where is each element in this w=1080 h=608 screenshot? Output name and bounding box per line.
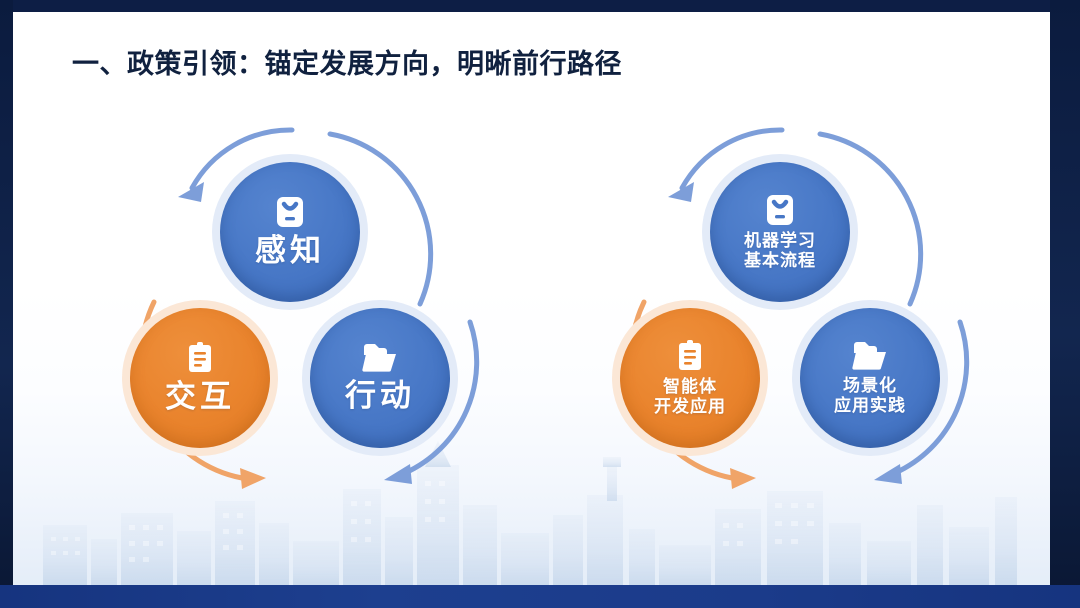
node-agent-development[interactable]: 智能体 开发应用 <box>612 300 768 456</box>
frame-bottom-bar <box>0 585 1080 608</box>
folder-icon <box>362 342 398 374</box>
node-label: 感知 <box>255 233 325 270</box>
clipboard-icon <box>675 339 705 373</box>
node-label: 交互 <box>165 379 235 416</box>
slide-page: 一、政策引领：锚定发展方向，明晰前行路径 <box>13 12 1050 585</box>
slide-canvas: 一、政策引领：锚定发展方向，明晰前行路径 <box>0 0 1080 608</box>
node-label: 行动 <box>345 378 415 415</box>
arrowhead-bottom-left <box>240 468 266 489</box>
node-label: 智能体 开发应用 <box>654 377 726 417</box>
node-machine-learning-process[interactable]: 机器学习 基本流程 <box>702 154 858 310</box>
node-action[interactable]: 行动 <box>302 300 458 456</box>
diagram-course-module-loop: 机器学习 基本流程 智能体 开发应用 <box>560 12 1000 585</box>
clipboard-icon <box>185 341 215 375</box>
arrowhead-right <box>384 464 412 484</box>
node-label: 场景化 应用实践 <box>834 376 906 416</box>
arrowhead-top-left <box>178 182 204 202</box>
robot-bag-icon <box>764 193 796 227</box>
arrowhead-right <box>874 464 902 484</box>
arrowhead-bottom-left <box>730 468 756 489</box>
frame-left-border <box>0 0 13 608</box>
frame-top-border <box>0 0 1080 12</box>
arrowhead-top-left <box>668 182 694 202</box>
frame-right-border <box>1050 0 1080 608</box>
node-perception[interactable]: 感知 <box>212 154 368 310</box>
folder-icon <box>852 340 888 372</box>
node-scenario-application[interactable]: 场景化 应用实践 <box>792 300 948 456</box>
robot-bag-icon <box>274 195 306 229</box>
node-interaction[interactable]: 交互 <box>122 300 278 456</box>
diagram-ai-agent-loop: 感知 交互 <box>70 12 510 585</box>
node-label: 机器学习 基本流程 <box>744 231 816 271</box>
